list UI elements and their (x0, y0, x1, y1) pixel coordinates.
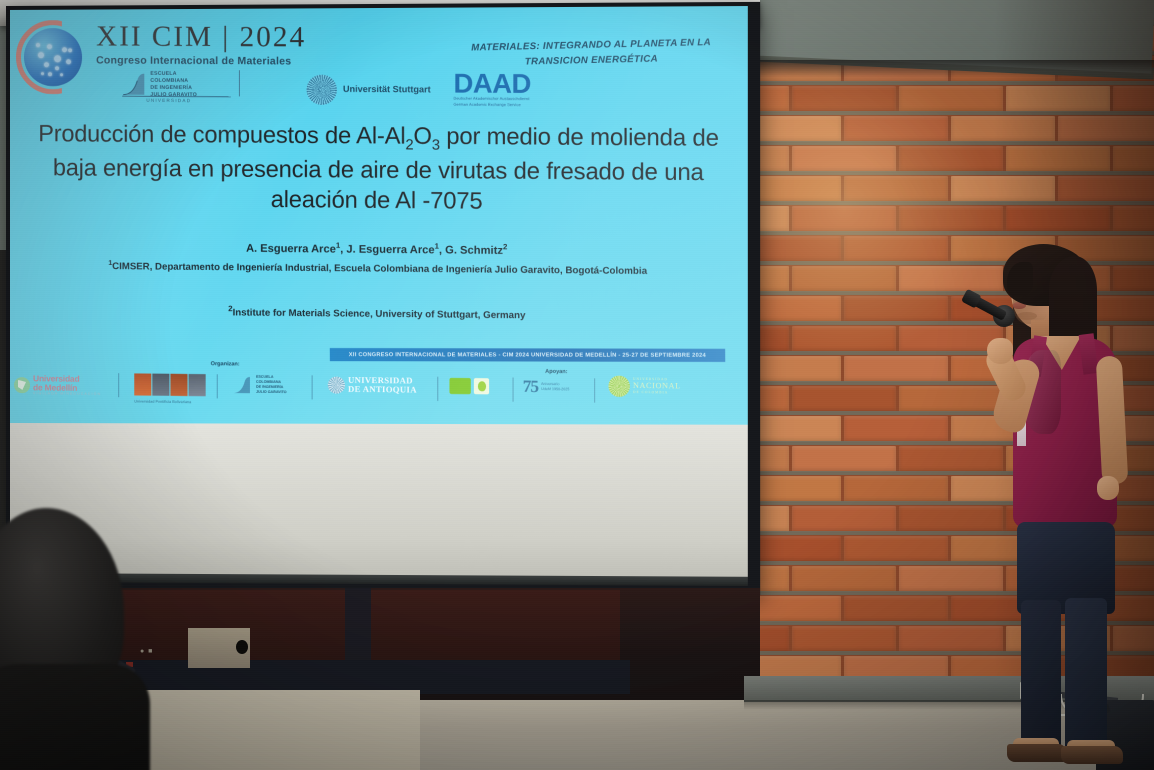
universidad-de-medellin-logo: Universidadde MedellínVIGILADA MINEDUCAC… (14, 374, 101, 396)
presentation-slide: XII CIM | 2024 Congreso Internacional de… (10, 6, 748, 425)
congress-banner: XII CONGRESO INTERNACIONAL DE MATERIALES… (330, 348, 726, 362)
left-hand (987, 338, 1013, 364)
brand-subtitle: Congreso Internacional de Materiales (96, 54, 306, 67)
slide-affiliation-1: 1CIMSER, Departamento de Ingeniería Indu… (60, 258, 696, 279)
eci-curve-mark (122, 72, 148, 96)
screen-blank-area (10, 423, 748, 586)
stuttgart-sunburst-icon (307, 75, 337, 105)
daad-tagline: Deutscher Akademischer AustauschdienstGe… (454, 97, 531, 109)
supporters-label: Apoyan: (545, 369, 567, 375)
eci-curve-mark-footer (233, 374, 253, 394)
right-hand (1097, 476, 1119, 500)
slide-authors: A. Esguerra Arce1, J. Esguerra Arce1, G.… (70, 239, 686, 259)
green-block-icon (449, 378, 470, 394)
under-screen-wall (60, 590, 620, 668)
aniversario-caption: AniversarioUdeM 1950-2025 (541, 382, 569, 392)
upb-caption: Universidad Pontificia Bolivariana (134, 399, 191, 404)
eci-caption: UNIVERSIDAD (146, 98, 191, 103)
right-sandal (1061, 746, 1123, 764)
universidad-nacional-logo: UNIVERSIDADNACIONALDE COLOMBIA (608, 376, 680, 398)
daad-wordmark: DAAD (454, 71, 531, 96)
hair-fringe (1007, 262, 1033, 296)
universitat-stuttgart-logo: Universität Stuttgart (307, 75, 337, 105)
projection-screen-surface: XII CIM | 2024 Congreso Internacional de… (10, 6, 748, 586)
stuttgart-label: Universität Stuttgart (343, 84, 431, 95)
presentation-photo-scene: Rev. Screen XII CIM | 2024 Congreso Inte… (0, 0, 1154, 770)
small-equipment-marks: ● ■ (140, 648, 153, 655)
slide-affiliation-2: 2Institute for Materials Science, Univer… (100, 303, 655, 323)
institution-logo-row: ESCUELACOLOMBIANADE INGENIERÍAJULIO GARA… (120, 70, 647, 119)
right-leg (1065, 598, 1107, 752)
box-handle-hole (236, 640, 248, 654)
right-arm (1096, 355, 1129, 484)
escuela-colombiana-ingenieria-logo: ESCUELACOLOMBIANADE INGENIERÍAJULIO GARA… (120, 70, 241, 71)
sponsor-row: Organizan: Apoyan: Universidadde Medellí… (10, 358, 748, 425)
congress-theme: MATERIALES: INTEGRANDO AL PLANETA EN LA … (453, 36, 730, 72)
udea-seal-icon (328, 376, 345, 393)
cim-logo (16, 20, 90, 94)
upb-logo: Universidad Pontificia Bolivariana (134, 373, 205, 404)
udem-wordmark: Universidadde MedellínVIGILADA MINEDUCAC… (33, 374, 101, 396)
aniversario-number: 75 (523, 377, 538, 397)
slide-brand: XII CIM | 2024 Congreso Internacional de… (96, 22, 306, 67)
presenter (955, 240, 1154, 770)
escuela-colombiana-ingenieria-logo-footer: ESCUELACOLOMBIANADE INGENIERÍAJULIO GARA… (233, 374, 287, 395)
daad-logo: DAAD Deutscher Akademischer Austauschdie… (454, 71, 531, 108)
unal-wordmark: UNIVERSIDADNACIONALDE COLOMBIA (633, 378, 681, 395)
udem-emblem-icon (14, 377, 30, 393)
projection-screen-frame: XII CIM | 2024 Congreso Internacional de… (6, 2, 760, 595)
left-leg (1021, 600, 1061, 752)
udea-wordmark: UNIVERSIDADDE ANTIOQUIA (348, 376, 417, 395)
slide-title: Producción de compuestos de Al-Al2O3 por… (38, 118, 719, 218)
brand-title: XII CIM | 2024 (96, 22, 306, 52)
audience-member-shoulders (0, 664, 150, 770)
congress-banner-text: XII CONGRESO INTERNACIONAL DE MATERIALES… (349, 352, 706, 359)
green-partner-logo (449, 378, 489, 395)
green-leaf-icon (474, 378, 489, 394)
eci-wordmark-footer: ESCUELACOLOMBIANADE INGENIERÍAJULIO GARA… (256, 375, 287, 395)
left-sandal (1007, 744, 1067, 762)
organizers-label: Organizan: (211, 361, 240, 367)
universidad-de-antioquia-logo: UNIVERSIDADDE ANTIOQUIA (328, 375, 417, 394)
unal-seal-icon (608, 376, 629, 397)
upb-shield-icon (134, 373, 205, 396)
aniversario-75-logo: 75 AniversarioUdeM 1950-2025 (523, 377, 570, 398)
